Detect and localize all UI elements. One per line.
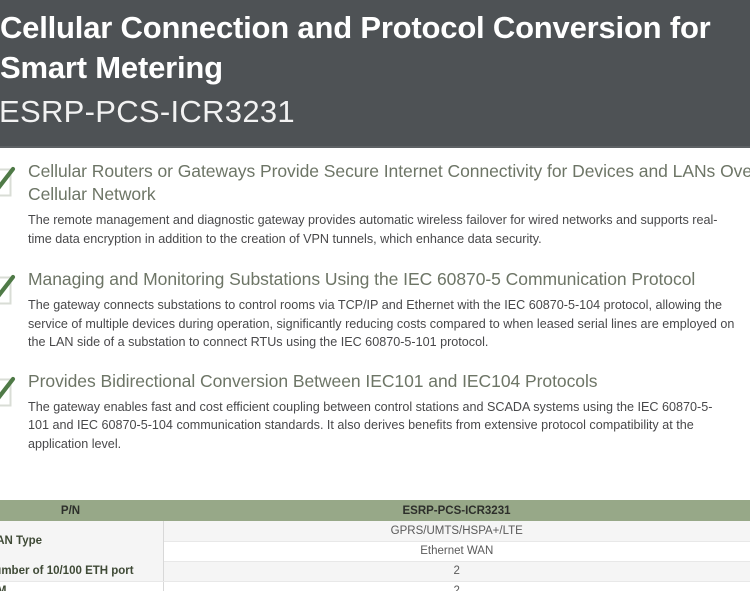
spec-value: Ethernet WAN [163, 541, 750, 561]
table-header-row: P/N ESRP-PCS-ICR3231 [0, 500, 750, 521]
feature-title: Cellular Routers or Gateways Provide Sec… [28, 160, 750, 206]
datasheet-page: Cellular Connection and Protocol Convers… [0, 0, 750, 591]
specification-table: P/N ESRP-PCS-ICR3231 WAN Type GPRS/UMTS/… [0, 500, 750, 591]
table-row: SIM 2 [0, 581, 750, 591]
table-row: Number of 10/100 ETH port 2 [0, 561, 750, 581]
feature-item: Cellular Routers or Gateways Provide Sec… [0, 160, 750, 248]
spec-value: 2 [163, 581, 750, 591]
feature-description: The remote management and diagnostic gat… [28, 211, 728, 248]
feature-description: The gateway enables fast and cost effici… [28, 398, 718, 454]
page-title: Cellular Connection and Protocol Convers… [0, 8, 750, 87]
product-part-number: ESRP-PCS-ICR3231 [0, 87, 750, 130]
feature-list: Cellular Routers or Gateways Provide Sec… [0, 160, 750, 469]
feature-description: The gateway connects substations to cont… [28, 296, 744, 352]
check-square-icon [0, 164, 18, 201]
table-header-cell-model: ESRP-PCS-ICR3231 [163, 500, 750, 521]
header-divider [0, 146, 750, 148]
table-header-cell-pn: P/N [0, 500, 163, 521]
feature-item: Managing and Monitoring Substations Usin… [0, 268, 750, 352]
spec-label-eth-ports: Number of 10/100 ETH port [0, 561, 163, 581]
spec-label-wan-type: WAN Type [0, 521, 163, 561]
check-square-icon [0, 374, 18, 411]
spec-value: 2 [163, 561, 750, 581]
feature-title: Managing and Monitoring Substations Usin… [28, 268, 750, 291]
feature-item: Provides Bidirectional Conversion Betwee… [0, 370, 750, 454]
table-row: WAN Type GPRS/UMTS/HSPA+/LTE [0, 521, 750, 541]
spec-label-sim: SIM [0, 581, 163, 591]
check-square-icon [0, 272, 18, 309]
product-header: Cellular Connection and Protocol Convers… [0, 0, 750, 148]
feature-title: Provides Bidirectional Conversion Betwee… [28, 370, 750, 393]
spec-value: GPRS/UMTS/HSPA+/LTE [163, 521, 750, 541]
